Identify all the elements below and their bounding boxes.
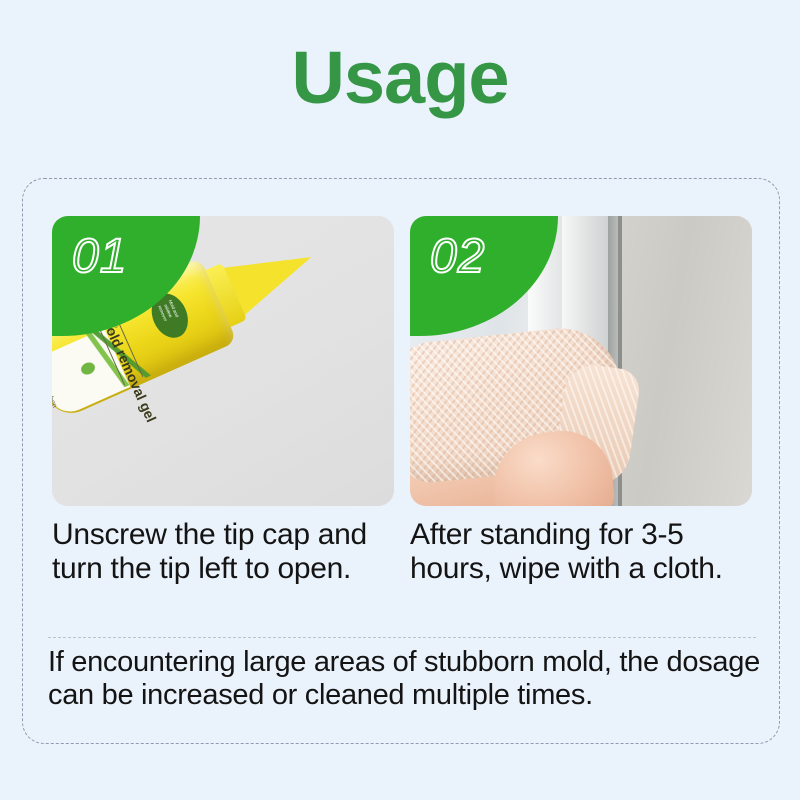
usage-instruction-panel: Usage kitchen Mold removal gel (0, 0, 800, 800)
steps-row: kitchen Mold removal gel Furniture witho… (52, 216, 752, 586)
step-card-01: kitchen Mold removal gel Furniture witho… (52, 216, 394, 586)
step-caption-02: After standing for 3-5 hours, wipe with … (410, 518, 752, 586)
step-number-02: 02 (430, 230, 485, 284)
footer-note: If encountering large areas of stubborn … (48, 646, 764, 712)
step-photo-02: 02 (410, 216, 752, 506)
window-sill-wall (618, 216, 752, 506)
step-caption-01: Unscrew the tip cap and turn the tip lef… (52, 518, 394, 586)
step-photo-01: kitchen Mold removal gel Furniture witho… (52, 216, 394, 506)
page-title: Usage (0, 38, 800, 118)
step-number-01: 01 (72, 230, 127, 284)
step-card-02: 02 After standing for 3-5 hours, wipe wi… (410, 216, 752, 586)
footer-divider (48, 637, 756, 638)
